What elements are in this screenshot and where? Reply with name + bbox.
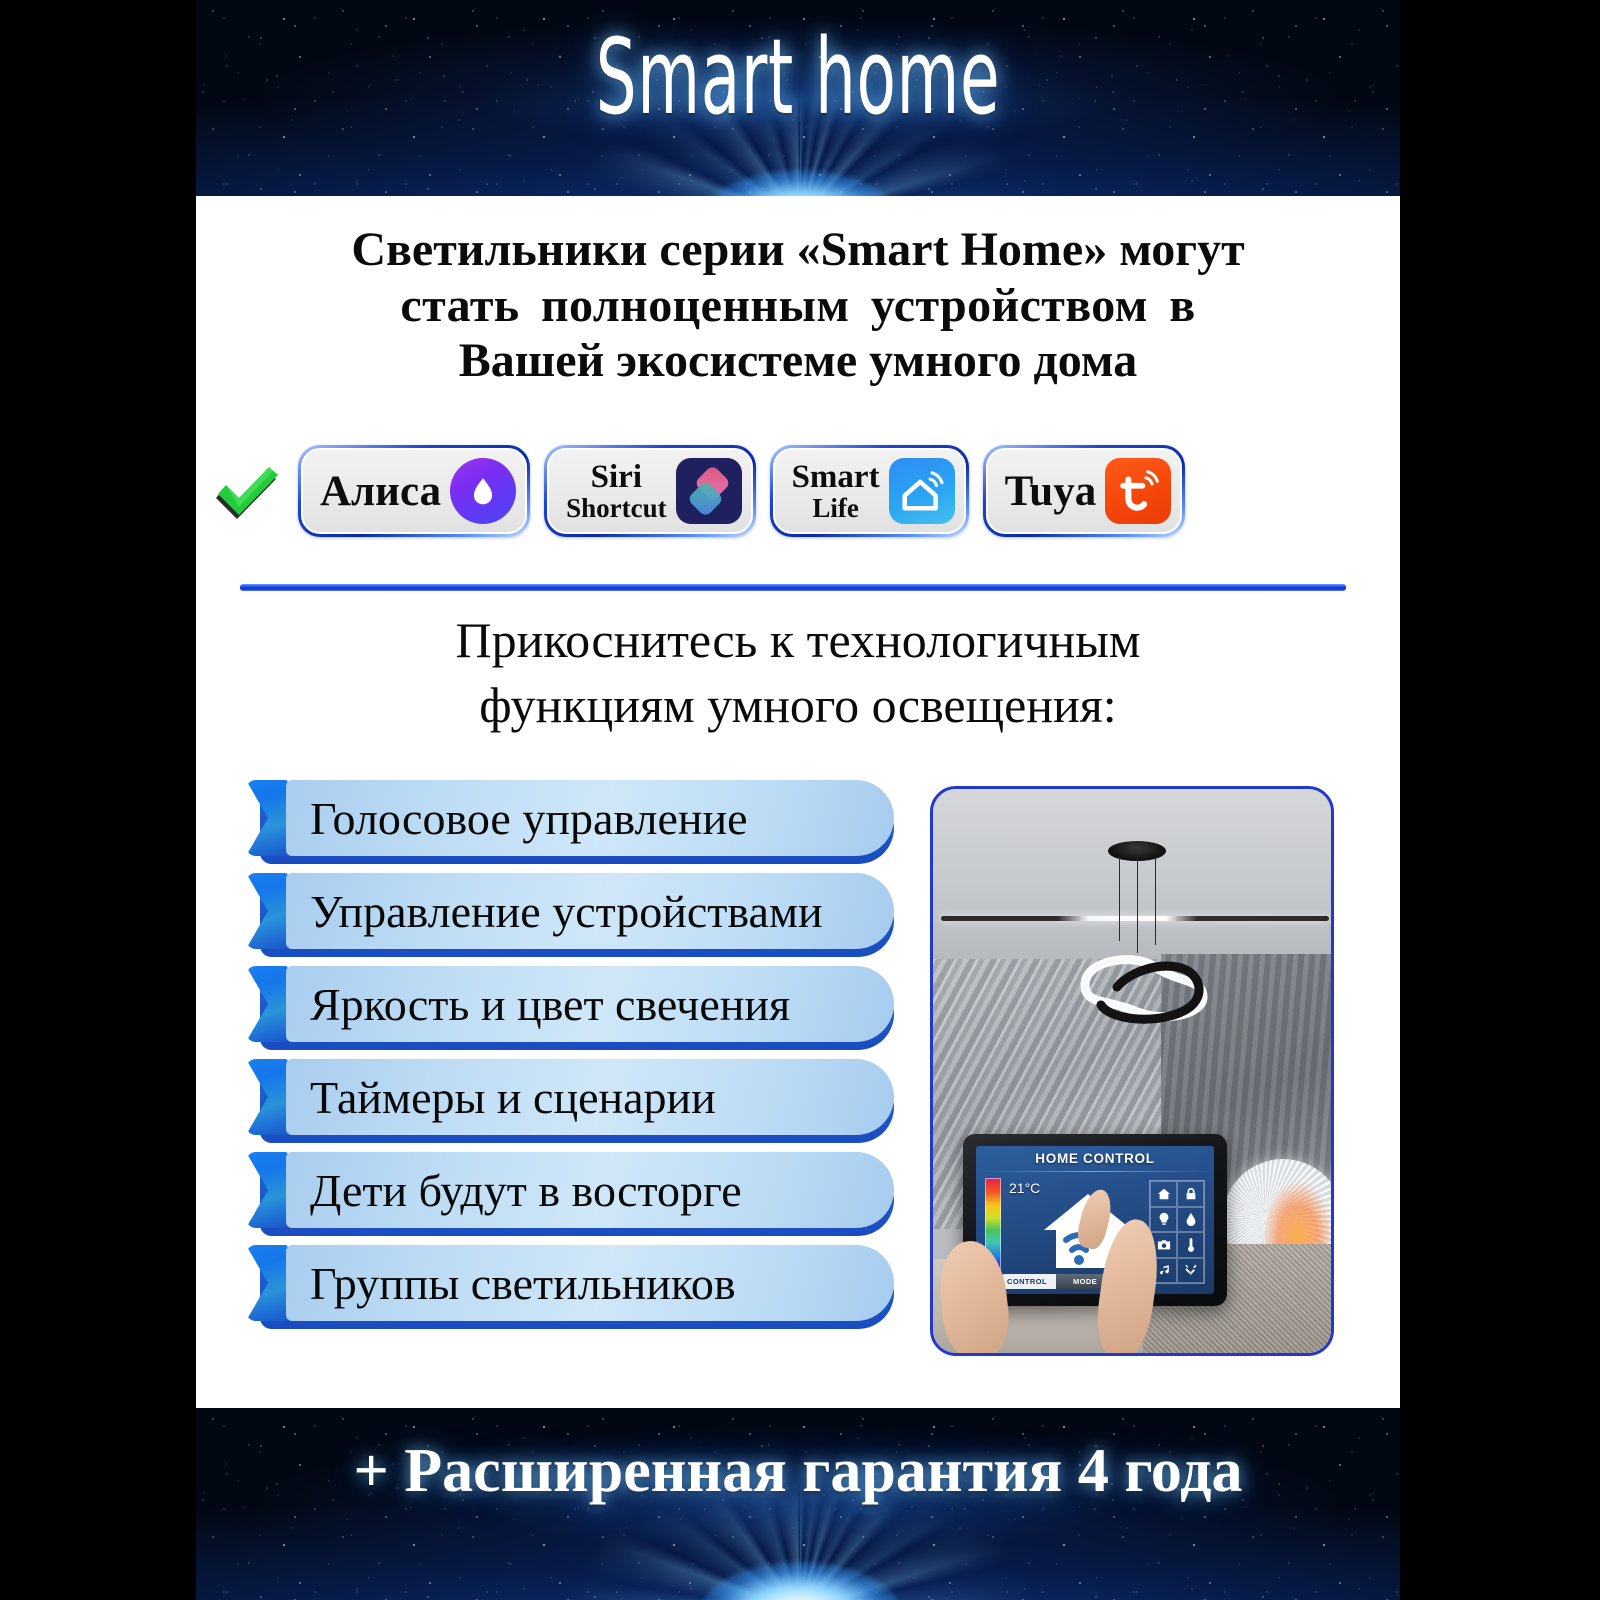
headline-block: Светильники серии «Smart Home» могут ста…: [220, 222, 1376, 389]
badge-siri-label-bottom: Shortcut: [566, 494, 667, 522]
badge-siri-shortcut[interactable]: Siri Shortcut: [544, 445, 756, 537]
feature-label: Голосовое управление: [286, 792, 748, 845]
thermometer-icon[interactable]: [1177, 1232, 1204, 1258]
feature-label: Яркость и цвет свечения: [286, 978, 790, 1031]
headline-line-2: стать полноценным устройством в: [220, 278, 1376, 334]
badge-smartlife-label-bottom: Life: [792, 494, 880, 522]
temperature-readout: 21°C: [1009, 1180, 1040, 1196]
photo-lamp-wire: [1119, 857, 1120, 941]
list-item[interactable]: Дети будут в восторге: [246, 1152, 894, 1240]
list-item[interactable]: Группы светильников: [246, 1245, 894, 1333]
smart-lamp-room-photo: HOME CONTROL 21°C: [930, 786, 1334, 1356]
tablet-control-button[interactable]: CONTROL: [998, 1274, 1056, 1289]
photo-ceiling: [933, 789, 1331, 961]
siri-shortcuts-icon: [676, 458, 742, 524]
badge-alice-label: Алиса: [320, 470, 441, 513]
home-icon[interactable]: [1150, 1181, 1177, 1207]
bulb-icon[interactable]: [1150, 1207, 1177, 1233]
list-item[interactable]: Таймеры и сценарии: [246, 1059, 894, 1147]
photo-lamp-wire: [1155, 857, 1156, 945]
tablet-title: HOME CONTROL: [976, 1151, 1214, 1166]
list-item[interactable]: Голосовое управление: [246, 780, 894, 868]
badge-siri-label-top: Siri: [566, 460, 667, 494]
feature-label: Таймеры и сценарии: [286, 1071, 716, 1124]
subheading-line-1: Прикоснитесь к технологичным: [236, 608, 1360, 673]
tablet-icon-grid[interactable]: [1149, 1180, 1205, 1284]
section-divider: [240, 584, 1346, 591]
photo-pendant-lamp: [1051, 939, 1231, 1031]
photo-track-light: [941, 916, 1329, 921]
feature-label: Группы светильников: [286, 1257, 736, 1310]
warranty-text: + Расширенная гарантия 4 года: [196, 1436, 1400, 1507]
feature-label: Дети будут в восторге: [286, 1164, 742, 1217]
tablet-mode-toggle[interactable]: CONTROL MODE: [998, 1274, 1114, 1289]
badge-tuya-label: Tuya: [1005, 470, 1097, 513]
badge-smartlife-label: Smart Life: [792, 460, 880, 522]
content-panel: Светильники серии «Smart Home» могут ста…: [196, 196, 1400, 1408]
headline-line-3: Вашей экосистеме умного дома: [220, 333, 1376, 389]
list-item[interactable]: Яркость и цвет свечения: [246, 966, 894, 1054]
feature-list: Голосовое управление Управление устройст…: [246, 780, 894, 1338]
tablet-title-rule: [982, 1171, 1208, 1172]
badge-smart-life[interactable]: Smart Life: [770, 445, 969, 537]
poster-root: Smart home Светильники серии «Smart Home…: [0, 0, 1600, 1600]
poster-title: Smart home: [425, 16, 1171, 139]
headline-line-1: Светильники серии «Smart Home» могут: [220, 222, 1376, 278]
badge-smartlife-label-top: Smart: [792, 460, 880, 494]
alice-assistant-icon: [450, 458, 516, 524]
badge-tuya[interactable]: Tuya: [983, 445, 1186, 537]
tools-icon[interactable]: [1177, 1258, 1204, 1284]
subheading-line-2: функциям умного освещения:: [236, 673, 1360, 738]
list-item[interactable]: Управление устройствами: [246, 873, 894, 961]
water-drop-icon[interactable]: [1177, 1207, 1204, 1233]
lock-icon[interactable]: [1177, 1181, 1204, 1207]
photo-fireplace-glow: [1263, 1181, 1333, 1251]
smart-life-icon: [889, 458, 955, 524]
green-checkmark-icon: [210, 454, 284, 528]
ecosystem-badge-row: Алиса Siri Shortcut: [210, 439, 1386, 543]
badge-alice[interactable]: Алиса: [298, 445, 530, 537]
tuya-icon: [1105, 458, 1171, 524]
feature-label: Управление устройствами: [286, 885, 823, 938]
subheading-block: Прикоснитесь к технологичным функциям ум…: [236, 608, 1360, 738]
badge-siri-label: Siri Shortcut: [566, 460, 667, 522]
